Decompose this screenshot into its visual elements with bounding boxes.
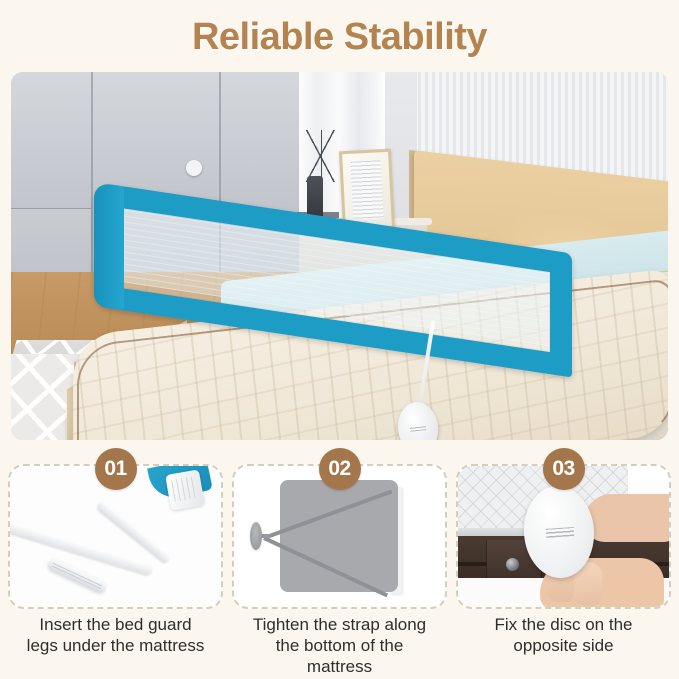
fixing-disc-diagram: [250, 522, 262, 550]
rail-end-post: [94, 182, 124, 310]
page-title: Reliable Stability: [0, 16, 679, 59]
step-02-caption: Tighten the strap along the bottom of th…: [232, 614, 447, 677]
step-03-caption: Fix the disc on the opposite side: [456, 614, 671, 656]
hero-product-photo: [11, 72, 668, 440]
step-badge-01: 01: [95, 448, 137, 490]
step-03: 03 Fix the disc on the opposite side: [456, 450, 671, 679]
drawer-knob-icon: [506, 558, 519, 571]
step-01-caption: Insert the bed guard legs under the matt…: [8, 614, 223, 656]
step-01: 01 Insert the bed guard legs under the m…: [8, 450, 223, 679]
hand-upper: [584, 494, 671, 542]
step-badge-02: 02: [319, 448, 361, 490]
guard-leg-bracket: [165, 469, 205, 510]
step-02: 02 Tighten the strap along the bottom of…: [232, 450, 447, 679]
step-badge-03: 03: [543, 448, 585, 490]
wardrobe-knob-icon: [186, 160, 202, 176]
wardrobe-seam: [91, 72, 93, 282]
installation-steps: 01 Insert the bed guard legs under the m…: [0, 450, 679, 679]
